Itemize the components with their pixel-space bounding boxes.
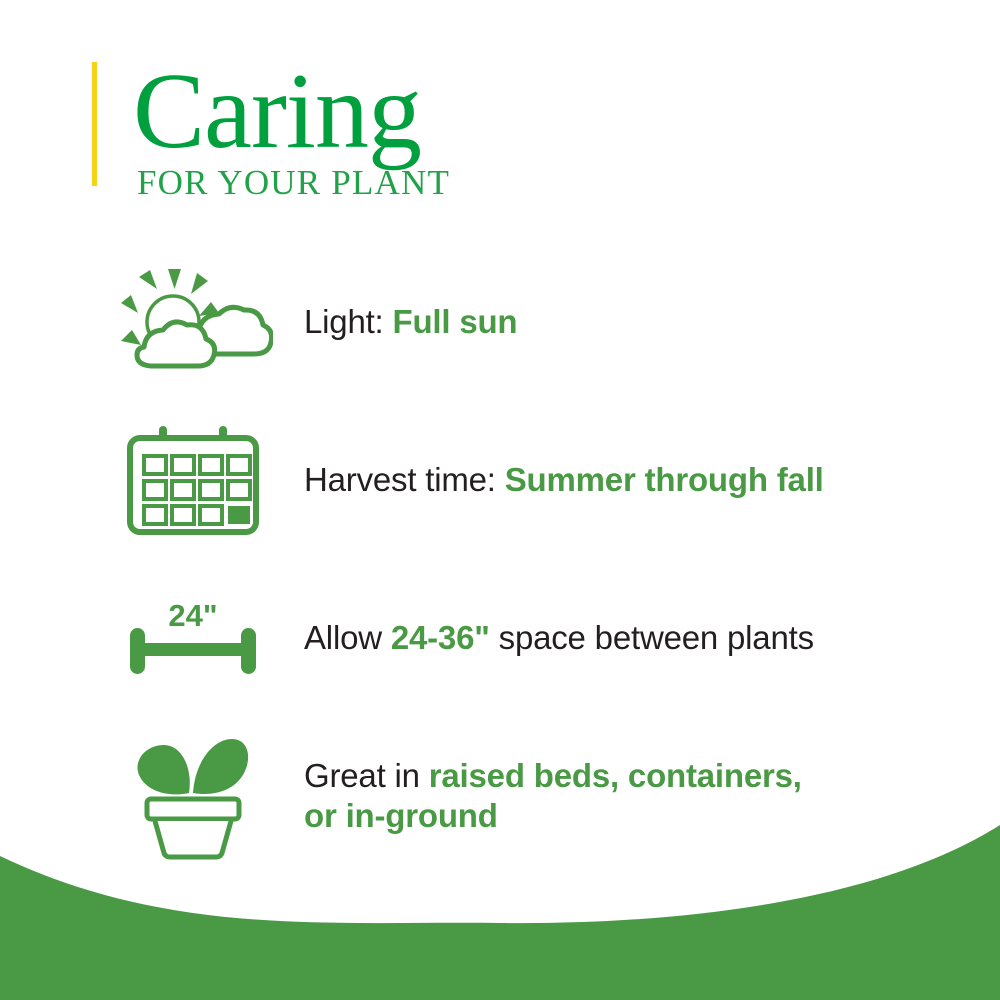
calendar-icon — [105, 424, 280, 536]
spacing-icon-label: 24" — [168, 598, 217, 633]
care-row-harvest-text: Harvest time: Summer through fall — [304, 460, 824, 500]
location-label: Great in — [304, 757, 420, 794]
spacing-label: Allow — [304, 619, 382, 656]
light-value: Full sun — [393, 303, 518, 340]
care-row-spacing: 24" Allow 24-36" space between plants — [0, 559, 1000, 717]
location-value: raised beds, containers, — [429, 757, 802, 794]
sun-behind-clouds-icon — [105, 267, 280, 377]
header: Caring FOR YOUR PLANT — [92, 62, 450, 200]
harvest-value: Summer through fall — [505, 461, 824, 498]
header-text-group: Caring FOR YOUR PLANT — [133, 62, 450, 200]
harvest-label: Harvest time: — [304, 461, 496, 498]
caring-for-your-plant-card: Caring FOR YOUR PLANT — [0, 0, 1000, 1000]
page-subtitle: FOR YOUR PLANT — [137, 165, 450, 200]
page-title: Caring — [133, 62, 450, 161]
care-row-light: Light: Full sun — [0, 243, 1000, 401]
spacing-value: 24-36" — [391, 619, 490, 656]
bottom-wave-decoration — [0, 825, 1000, 1000]
light-label: Light: — [304, 303, 384, 340]
spacing-measure-icon: 24" — [105, 593, 280, 683]
yellow-accent-bar — [92, 62, 97, 186]
care-row-light-text: Light: Full sun — [304, 302, 517, 342]
care-row-spacing-text: Allow 24-36" space between plants — [304, 618, 814, 658]
care-instruction-list: Light: Full sun — [0, 243, 1000, 875]
spacing-tail: space between plants — [499, 619, 814, 656]
care-row-harvest: Harvest time: Summer through fall — [0, 401, 1000, 559]
